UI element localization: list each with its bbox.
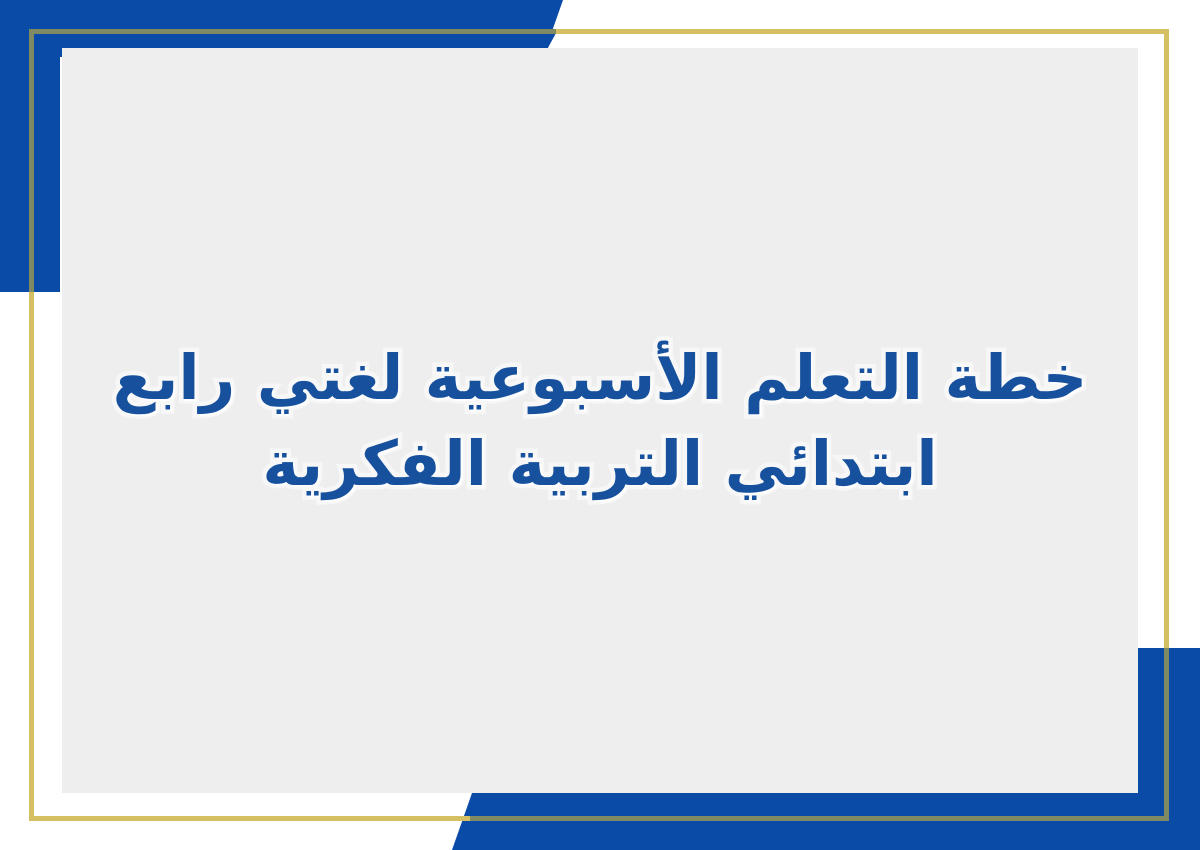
gold-frame-right-over-blue <box>1164 648 1169 821</box>
bottom-right-blue-ribbon <box>452 793 1200 850</box>
poster-title-line-1: خطة التعلم الأسبوعية لغتي رابع <box>113 338 1088 417</box>
poster-canvas: خطة التعلم الأسبوعية لغتي رابع ابتدائي ا… <box>0 0 1200 850</box>
gold-frame-top-over-blue <box>31 29 556 34</box>
poster-title-block: خطة التعلم الأسبوعية لغتي رابع ابتدائي ا… <box>62 48 1138 793</box>
gold-frame-left-over-blue <box>29 29 34 292</box>
gold-frame-bottom-over-blue <box>470 816 1169 821</box>
poster-title-line-2: ابتدائي التربية الفكرية <box>262 424 937 503</box>
